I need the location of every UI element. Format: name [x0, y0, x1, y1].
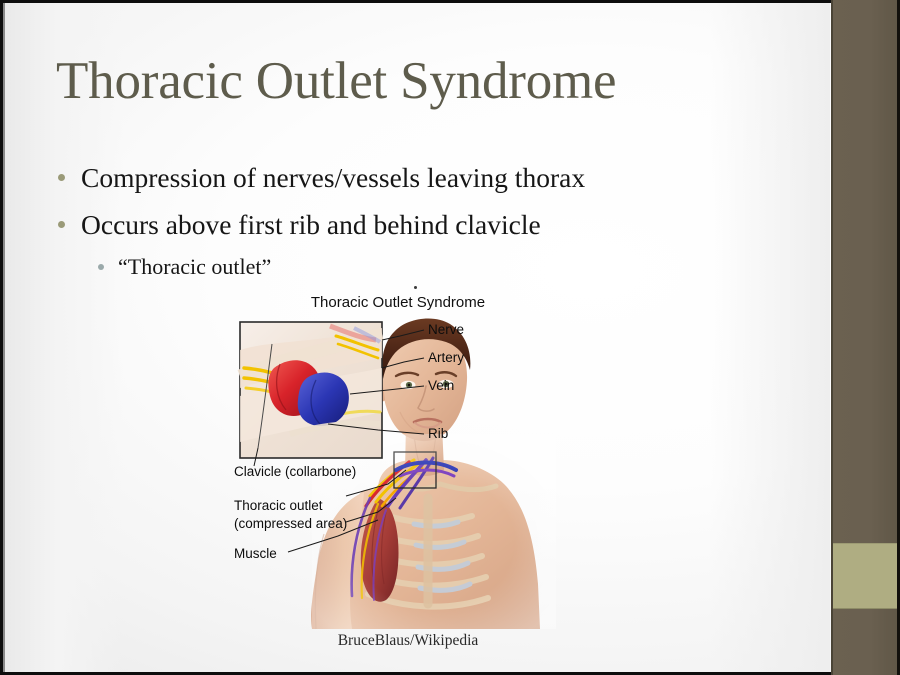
label-thoracic-outlet-line1: Thoracic outlet [234, 498, 323, 513]
presentation-slide: Thoracic Outlet Syndrome Compression of … [0, 0, 900, 675]
label-muscle: Muscle [234, 546, 277, 561]
sub-bullet-dot-icon [98, 264, 104, 270]
pupil [408, 384, 411, 387]
bullet-dot-icon [58, 221, 65, 228]
slide-title: Thoracic Outlet Syndrome [56, 54, 796, 109]
magnified-inset [240, 322, 382, 458]
label-vein: Vein [428, 378, 454, 393]
slide-left-edge [3, 3, 5, 672]
decoration-khaki-block [833, 543, 900, 609]
label-nerve: Nerve [428, 322, 464, 337]
sub-bullet-item: “Thoracic outlet” [98, 252, 778, 283]
label-clavicle: Clavicle (collarbone) [234, 464, 356, 479]
bullet-text: Compression of nerves/vessels leaving th… [81, 158, 585, 198]
sub-bullet-text: “Thoracic outlet” [118, 252, 271, 283]
label-rib: Rib [428, 426, 448, 441]
anatomy-illustration: Nerve Artery Vein Rib Clavicle (collarbo… [228, 284, 588, 629]
bullet-item: Compression of nerves/vessels leaving th… [58, 158, 778, 198]
anatomy-figure: Thoracic Outlet Syndrome [228, 284, 588, 659]
label-thoracic-outlet-line2: (compressed area) [234, 516, 347, 531]
bullet-dot-icon [58, 174, 65, 181]
bullet-list: Compression of nerves/vessels leaving th… [58, 158, 778, 283]
label-artery: Artery [428, 350, 464, 365]
bullet-text: Occurs above first rib and behind clavic… [81, 205, 541, 245]
bullet-item: Occurs above first rib and behind clavic… [58, 205, 778, 245]
slide-right-decoration [831, 0, 900, 675]
figure-caption: BruceBlaus/Wikipedia [228, 632, 588, 650]
